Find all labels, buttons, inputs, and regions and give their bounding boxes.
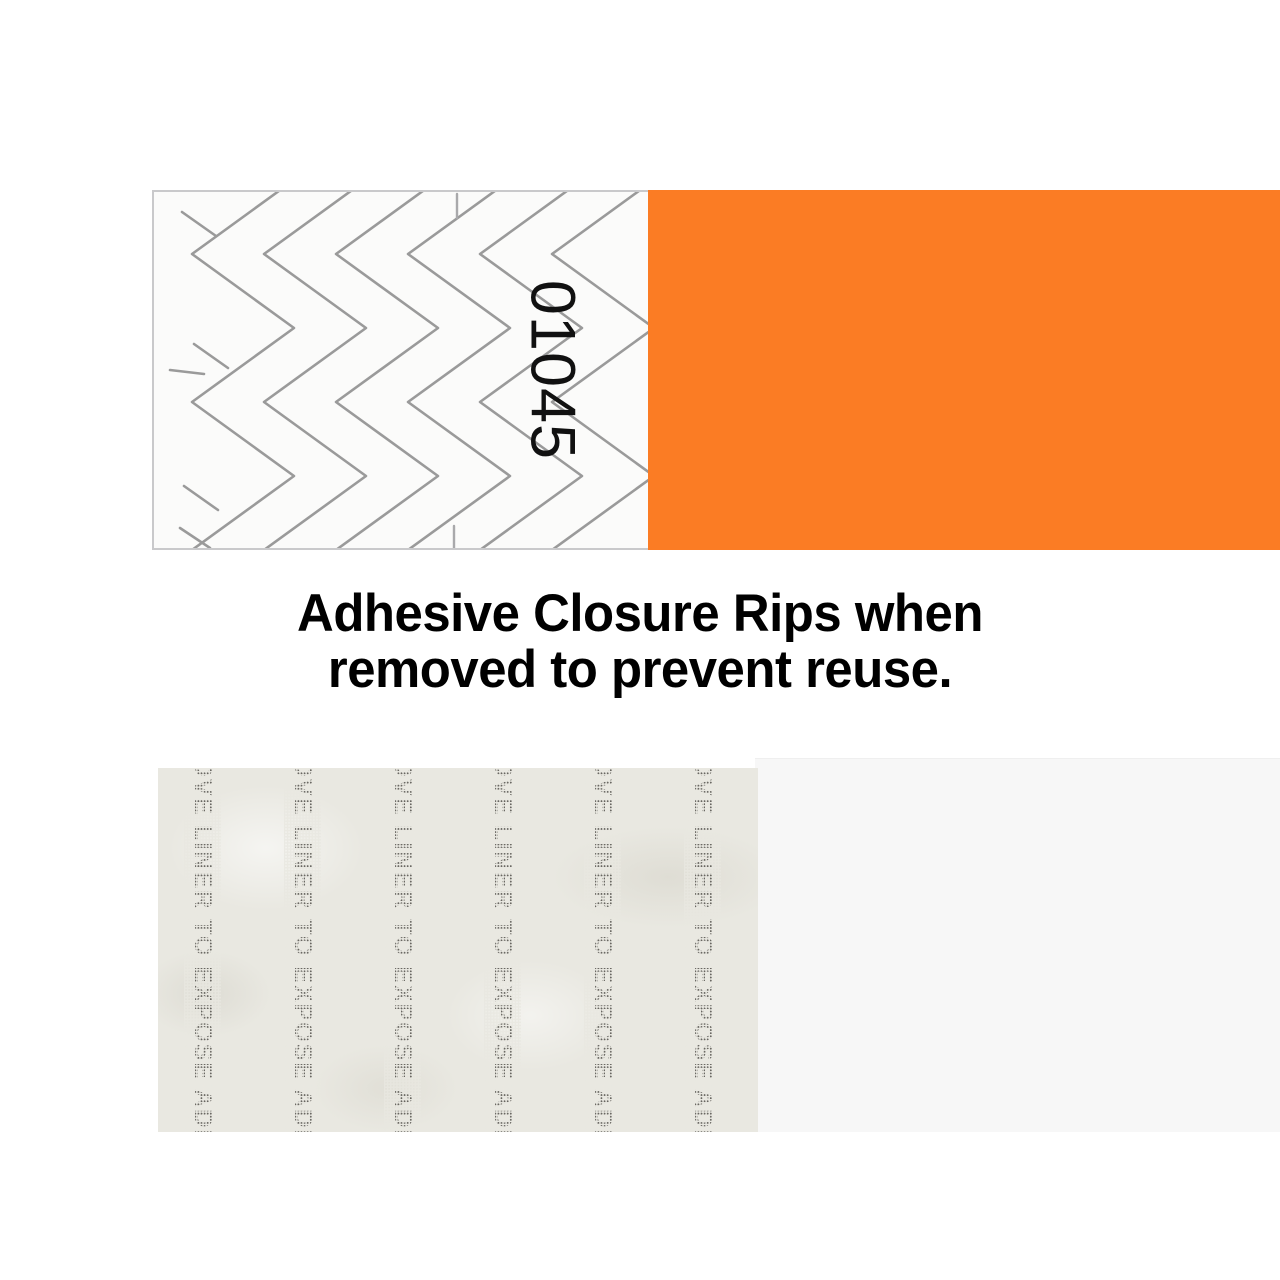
wristband-backing	[755, 758, 1280, 1132]
liner-instruction-columns: REMOVE LINER TO EXPOSE ADHESIVEREMOVE LI…	[158, 768, 758, 1132]
wristband-back: REMOVE LINER TO EXPOSE ADHESIVEREMOVE LI…	[158, 758, 1280, 1132]
liner-instruction-text: REMOVE LINER TO EXPOSE ADHESIVE	[188, 768, 217, 1132]
liner-instruction-text-glyphs: REMOVE LINER TO EXPOSE ADHESIVE	[588, 768, 617, 1132]
liner-instruction-text-glyphs: REMOVE LINER TO EXPOSE ADHESIVE	[488, 768, 517, 1132]
liner-instruction-text-glyphs: REMOVE LINER TO EXPOSE ADHESIVE	[688, 768, 717, 1132]
caption-line-2: removed to prevent reuse.	[26, 642, 1255, 698]
liner-instruction-text-glyphs: REMOVE LINER TO EXPOSE ADHESIVE	[188, 768, 217, 1132]
liner-instruction-text: REMOVE LINER TO EXPOSE ADHESIVE	[588, 768, 617, 1132]
liner-instruction-text: REMOVE LINER TO EXPOSE ADHESIVE	[488, 768, 517, 1132]
liner-instruction-text: REMOVE LINER TO EXPOSE ADHESIVE	[688, 768, 717, 1132]
liner-instruction-text-glyphs: REMOVE LINER TO EXPOSE ADHESIVE	[388, 768, 417, 1132]
liner-instruction-text: REMOVE LINER TO EXPOSE ADHESIVE	[288, 768, 317, 1132]
adhesive-release-liner: REMOVE LINER TO EXPOSE ADHESIVEREMOVE LI…	[158, 768, 758, 1132]
wristband-front: 01045	[152, 190, 1280, 550]
liner-instruction-text-glyphs: REMOVE LINER TO EXPOSE ADHESIVE	[288, 768, 317, 1132]
band-color-section	[648, 190, 1280, 550]
caption-line-1: Adhesive Closure Rips when	[26, 586, 1255, 642]
serial-number: 01045	[520, 280, 583, 460]
tamper-evident-panel: 01045	[152, 190, 648, 550]
caption-text: Adhesive Closure Rips when removed to pr…	[26, 586, 1255, 698]
liner-instruction-text: REMOVE LINER TO EXPOSE ADHESIVE	[388, 768, 417, 1132]
